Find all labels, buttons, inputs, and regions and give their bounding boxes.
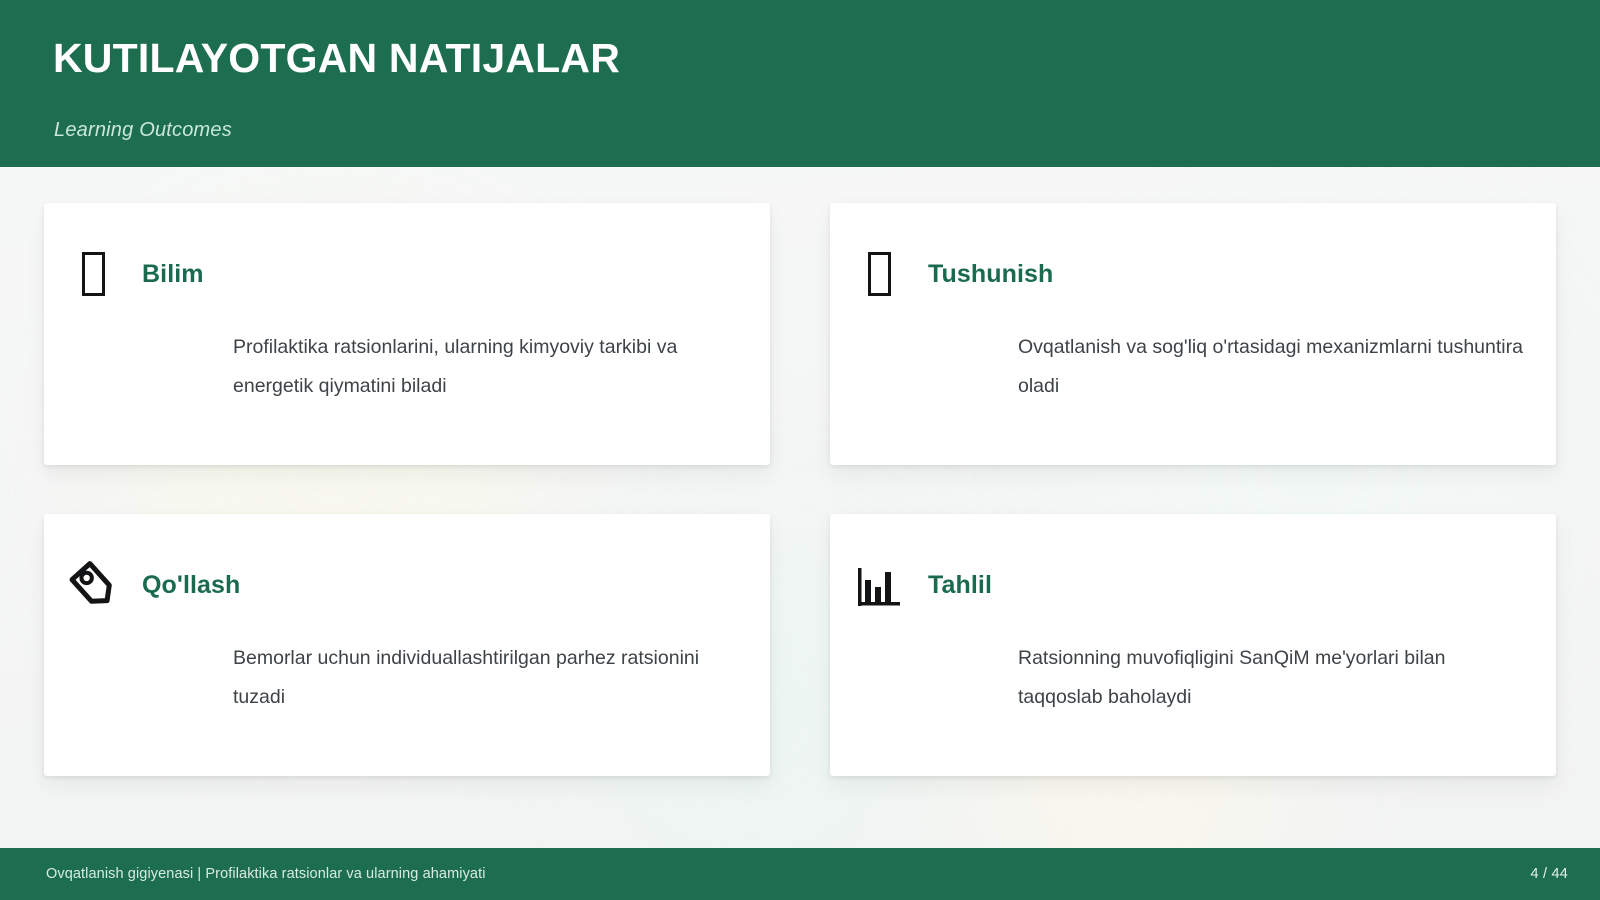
missing-glyph-box-icon bbox=[44, 252, 142, 296]
card-body-text: Bemorlar uchun individuallashtirilgan pa… bbox=[233, 639, 742, 716]
outcome-card-tahlil: Tahlil Ratsionning muvofiqligini SanQiM … bbox=[830, 514, 1556, 776]
page-subtitle: Learning Outcomes bbox=[54, 119, 232, 142]
page-indicator: 4 / 44 bbox=[1531, 866, 1568, 882]
slide-root: KUTILAYOTGAN NATIJALAR Learning Outcomes… bbox=[0, 0, 1600, 900]
page-title: KUTILAYOTGAN NATIJALAR bbox=[53, 36, 620, 81]
outcomes-card-grid: Bilim Profilaktika ratsionlarini, ularni… bbox=[44, 203, 1556, 776]
card-body-text: Ovqatlanish va sog'liq o'rtasidagi mexan… bbox=[1018, 328, 1528, 405]
card-title: Qo'llash bbox=[142, 573, 240, 598]
card-title: Bilim bbox=[142, 262, 204, 287]
slide-footer: Ovqatlanish gigiyenasi | Profilaktika ra… bbox=[0, 848, 1600, 900]
card-body-text: Ratsionning muvofiqligini SanQiM me'yorl… bbox=[1018, 639, 1528, 716]
card-header: Qo'llash bbox=[44, 554, 770, 616]
card-body-text: Profilaktika ratsionlarini, ularning kim… bbox=[233, 328, 742, 405]
card-title: Tushunish bbox=[928, 262, 1053, 287]
card-header: Bilim bbox=[44, 243, 770, 305]
card-title: Tahlil bbox=[928, 573, 992, 598]
bar-chart-icon bbox=[830, 560, 928, 610]
slide-header: KUTILAYOTGAN NATIJALAR Learning Outcomes bbox=[0, 0, 1600, 167]
footer-breadcrumb: Ovqatlanish gigiyenasi | Profilaktika ra… bbox=[46, 866, 486, 882]
outcome-card-tushunish: Tushunish Ovqatlanish va sog'liq o'rtasi… bbox=[830, 203, 1556, 465]
tag-icon bbox=[44, 556, 142, 614]
card-header: Tahlil bbox=[830, 554, 1556, 616]
outcome-card-qollash: Qo'llash Bemorlar uchun individuallashti… bbox=[44, 514, 770, 776]
card-header: Tushunish bbox=[830, 243, 1556, 305]
missing-glyph-box-icon bbox=[830, 252, 928, 296]
outcome-card-bilim: Bilim Profilaktika ratsionlarini, ularni… bbox=[44, 203, 770, 465]
